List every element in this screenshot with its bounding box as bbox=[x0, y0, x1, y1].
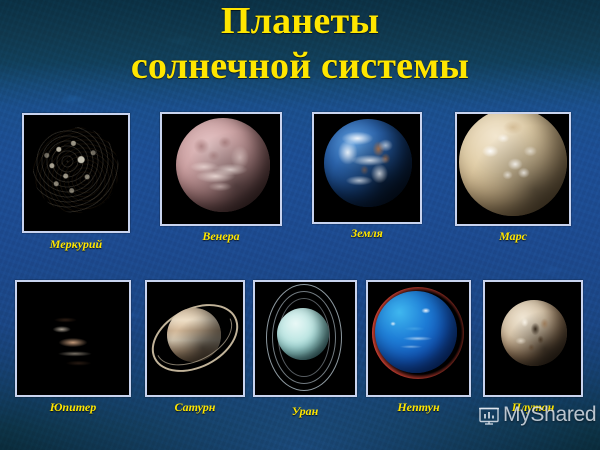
presentation-chart-icon bbox=[478, 405, 500, 425]
title-line-1: Планеты bbox=[0, 0, 600, 40]
surface-detail bbox=[33, 127, 119, 213]
planet-jupiter-icon bbox=[26, 288, 120, 382]
planet-frame bbox=[145, 280, 245, 397]
planet-label-uranus: Уран bbox=[253, 404, 357, 419]
planet-mercury-icon bbox=[33, 127, 119, 213]
planet-frame bbox=[15, 280, 131, 397]
planet-label-venus: Венера bbox=[160, 229, 282, 244]
planet-frame bbox=[366, 280, 471, 397]
planet-label-earth: Земля bbox=[312, 226, 422, 241]
slide-title: Планеты солнечной системы bbox=[0, 0, 600, 85]
planet-label-saturn: Сатурн bbox=[145, 400, 245, 415]
surface-detail bbox=[26, 288, 120, 382]
surface-detail bbox=[176, 118, 270, 212]
surface-detail bbox=[459, 112, 567, 216]
planet-label-jupiter: Юпитер bbox=[15, 400, 131, 415]
surface-detail bbox=[375, 291, 457, 373]
surface-detail bbox=[324, 119, 412, 207]
planet-label-neptune: Нептун bbox=[366, 400, 471, 415]
planet-frame bbox=[253, 280, 357, 397]
planet-frame bbox=[455, 112, 571, 226]
planet-mars-icon bbox=[459, 112, 567, 216]
title-line-2: солнечной системы bbox=[0, 40, 600, 85]
myshared-watermark: MyShared bbox=[478, 403, 596, 427]
planet-uranus-icon bbox=[277, 308, 329, 360]
surface-detail bbox=[501, 300, 567, 366]
planet-venus-icon bbox=[176, 118, 270, 212]
planet-earth-icon bbox=[324, 119, 412, 207]
planet-frame bbox=[22, 113, 130, 233]
planet-frame bbox=[312, 112, 422, 224]
planet-label-mars: Марс bbox=[455, 229, 571, 244]
planet-frame bbox=[160, 112, 282, 226]
planet-frame bbox=[483, 280, 583, 397]
planet-label-mercury: Меркурий bbox=[22, 237, 130, 252]
planet-neptune-icon bbox=[375, 291, 457, 373]
watermark-text: MyShared bbox=[503, 403, 596, 427]
planet-pluto-icon bbox=[501, 300, 567, 366]
presentation-slide: Планеты солнечной системы Меркурий Венер… bbox=[0, 0, 600, 450]
